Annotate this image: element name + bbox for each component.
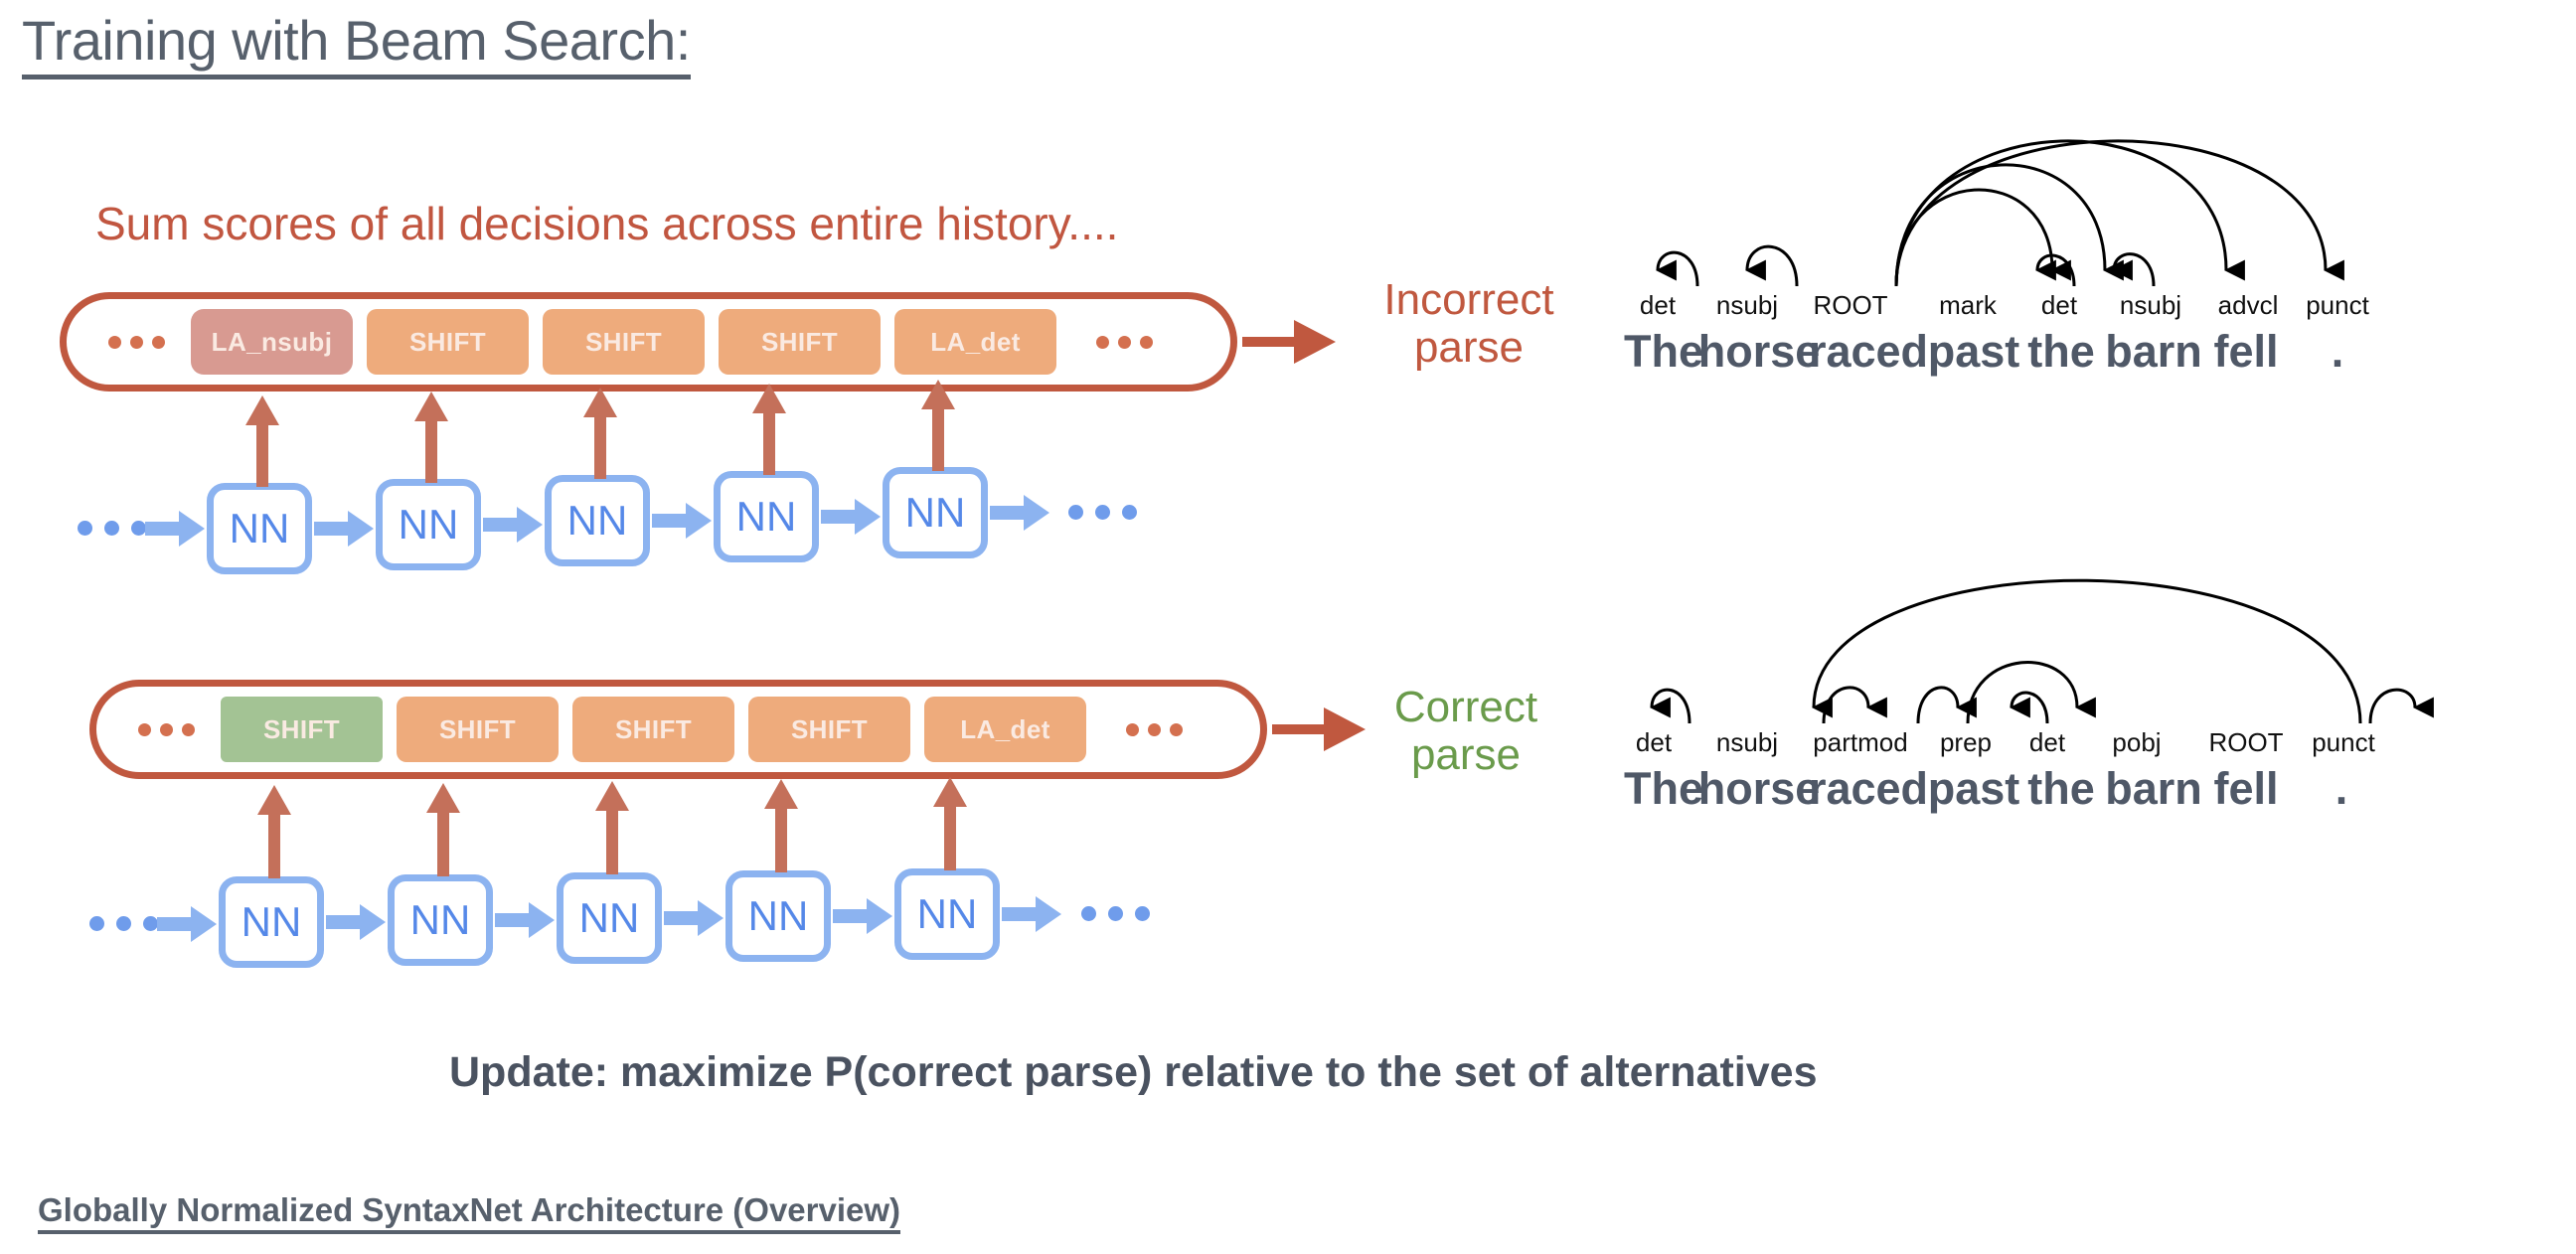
nn-chain-bottom-leading-ellipsis <box>89 916 158 931</box>
dep2-label-0: det <box>1636 727 1672 758</box>
incorrect-parse-label-line1: Incorrect <box>1340 276 1598 324</box>
dep-word-6: fell <box>2213 326 2278 378</box>
action-chip2-shift-1[interactable]: SHIFT <box>397 697 559 762</box>
incorrect-parse-tree: det nsubj ROOT mark det nsubj advcl punc… <box>1630 87 2554 356</box>
nn-cell-bottom-5[interactable]: NN <box>894 868 1000 960</box>
action-chip-shift-1[interactable]: SHIFT <box>367 309 529 375</box>
correct-parse-label-line1: Correct <box>1337 684 1595 731</box>
dep2-word-0: The <box>1624 763 1703 815</box>
dep2-label-3: prep <box>1940 727 1992 758</box>
dep-label-3: mark <box>1939 290 1997 321</box>
incorrect-parse-arcs <box>1630 87 2554 291</box>
nn-bottom-arrow-4 <box>833 898 894 934</box>
action-chip-shift-green[interactable]: SHIFT <box>221 697 383 762</box>
nn-top-score-arrow-2 <box>414 392 448 483</box>
dep2-word-5: barn <box>2105 763 2202 815</box>
nn-top-score-arrow-3 <box>583 388 617 479</box>
nn-cell-top-1[interactable]: NN <box>207 483 312 574</box>
dep-word-3: past <box>1928 326 2020 378</box>
dep-label-5: nsubj <box>2120 290 2181 321</box>
nn-cell-bottom-4[interactable]: NN <box>725 870 831 962</box>
dep-word-5: barn <box>2105 326 2202 378</box>
nn-top-arrow-1 <box>314 511 376 547</box>
action-chip-shift-2[interactable]: SHIFT <box>543 309 705 375</box>
nn-top-arrow-2 <box>483 507 545 543</box>
nn-top-score-arrow-1 <box>245 395 279 487</box>
incorrect-parse-label: Incorrect parse <box>1340 276 1598 371</box>
dep-word-2: raced <box>1809 326 1928 378</box>
nn-bottom-score-arrow-3 <box>595 781 629 874</box>
correct-beam-capsule: SHIFT SHIFT SHIFT SHIFT LA_det <box>89 680 1267 779</box>
dep2-word-7: . <box>2335 763 2348 815</box>
update-caption: Update: maximize P(correct parse) relati… <box>449 1048 1817 1097</box>
nn-cell-bottom-2[interactable]: NN <box>388 874 493 966</box>
dep-word-0: The <box>1624 326 1703 378</box>
page-title: Training with Beam Search: <box>22 12 691 79</box>
dep2-label-1: nsubj <box>1716 727 1778 758</box>
nn-cell-bottom-3[interactable]: NN <box>557 872 662 964</box>
nn-cell-top-3[interactable]: NN <box>545 475 650 566</box>
nn-cell-top-4[interactable]: NN <box>714 471 819 562</box>
correct-parse-label-line2: parse <box>1337 731 1595 779</box>
dep-word-1: horse <box>1698 326 1821 378</box>
nn-top-score-arrow-4 <box>752 384 786 475</box>
nn-bottom-score-arrow-5 <box>933 777 967 870</box>
nn-chain-top-leading-ellipsis <box>78 521 146 536</box>
action-chip-la-nsubj[interactable]: LA_nsubj <box>191 309 353 375</box>
nn-bottom-score-arrow-1 <box>257 785 291 878</box>
action-chip-la-det[interactable]: LA_det <box>894 309 1056 375</box>
dep2-word-4: the <box>2027 763 2095 815</box>
dep-label-2: ROOT <box>1813 290 1887 321</box>
nn-top-arrow-in <box>145 511 207 547</box>
action-chip2-shift-2[interactable]: SHIFT <box>572 697 734 762</box>
incorrect-beam-capsule: LA_nsubj SHIFT SHIFT SHIFT LA_det <box>60 292 1237 392</box>
nn-bottom-arrow-out <box>1002 896 1063 932</box>
beam2-leading-ellipsis <box>138 723 195 736</box>
dep2-word-2: raced <box>1809 763 1928 815</box>
correct-parse-arcs <box>1630 525 2554 728</box>
beam-leading-ellipsis <box>108 336 165 349</box>
action-chip-shift-3[interactable]: SHIFT <box>719 309 881 375</box>
dep-word-4: the <box>2027 326 2095 378</box>
nn-chain-bottom-trailing-ellipsis <box>1081 906 1150 921</box>
dep-label-7: punct <box>2306 290 2369 321</box>
dep2-word-6: fell <box>2213 763 2278 815</box>
nn-bottom-arrow-2 <box>495 902 557 938</box>
nn-bottom-arrow-1 <box>326 904 388 940</box>
nn-top-arrow-3 <box>652 503 714 539</box>
dep2-label-2: partmod <box>1813 727 1907 758</box>
nn-bottom-arrow-3 <box>664 900 725 936</box>
nn-cell-bottom-1[interactable]: NN <box>219 876 324 968</box>
nn-chain-top-trailing-ellipsis <box>1068 505 1137 520</box>
nn-cell-top-5[interactable]: NN <box>883 467 988 558</box>
correct-parse-tree: det nsubj partmod prep det pobj ROOT pun… <box>1630 525 2554 793</box>
nn-bottom-score-arrow-4 <box>764 779 798 872</box>
beam-trailing-ellipsis <box>1096 336 1153 349</box>
dep-label-6: advcl <box>2218 290 2279 321</box>
nn-cell-top-2[interactable]: NN <box>376 479 481 570</box>
sum-scores-caption: Sum scores of all decisions across entir… <box>95 197 1118 250</box>
nn-top-score-arrow-5 <box>921 380 955 471</box>
slide-canvas: Training with Beam Search: Sum scores of… <box>0 0 2576 1254</box>
dep-label-1: nsubj <box>1716 290 1778 321</box>
nn-bottom-score-arrow-2 <box>426 783 460 876</box>
dep2-word-3: past <box>1928 763 2020 815</box>
nn-top-arrow-4 <box>821 499 883 535</box>
action-chip2-la-det[interactable]: LA_det <box>924 697 1086 762</box>
correct-parse-label: Correct parse <box>1337 684 1595 778</box>
dep2-label-5: pobj <box>2112 727 2161 758</box>
dep-label-4: det <box>2041 290 2077 321</box>
dep2-word-1: horse <box>1698 763 1821 815</box>
dep-label-0: det <box>1640 290 1676 321</box>
dep2-label-7: punct <box>2312 727 2375 758</box>
incorrect-result-arrow <box>1242 314 1338 370</box>
beam2-trailing-ellipsis <box>1126 723 1183 736</box>
slide-footer: Globally Normalized SyntaxNet Architectu… <box>38 1192 900 1234</box>
action-chip2-shift-3[interactable]: SHIFT <box>748 697 910 762</box>
incorrect-parse-label-line2: parse <box>1340 324 1598 372</box>
dep2-label-6: ROOT <box>2208 727 2283 758</box>
nn-top-arrow-out <box>990 495 1051 531</box>
dep2-label-4: det <box>2029 727 2065 758</box>
dep-word-7: . <box>2332 326 2344 378</box>
nn-bottom-arrow-in <box>157 906 219 942</box>
